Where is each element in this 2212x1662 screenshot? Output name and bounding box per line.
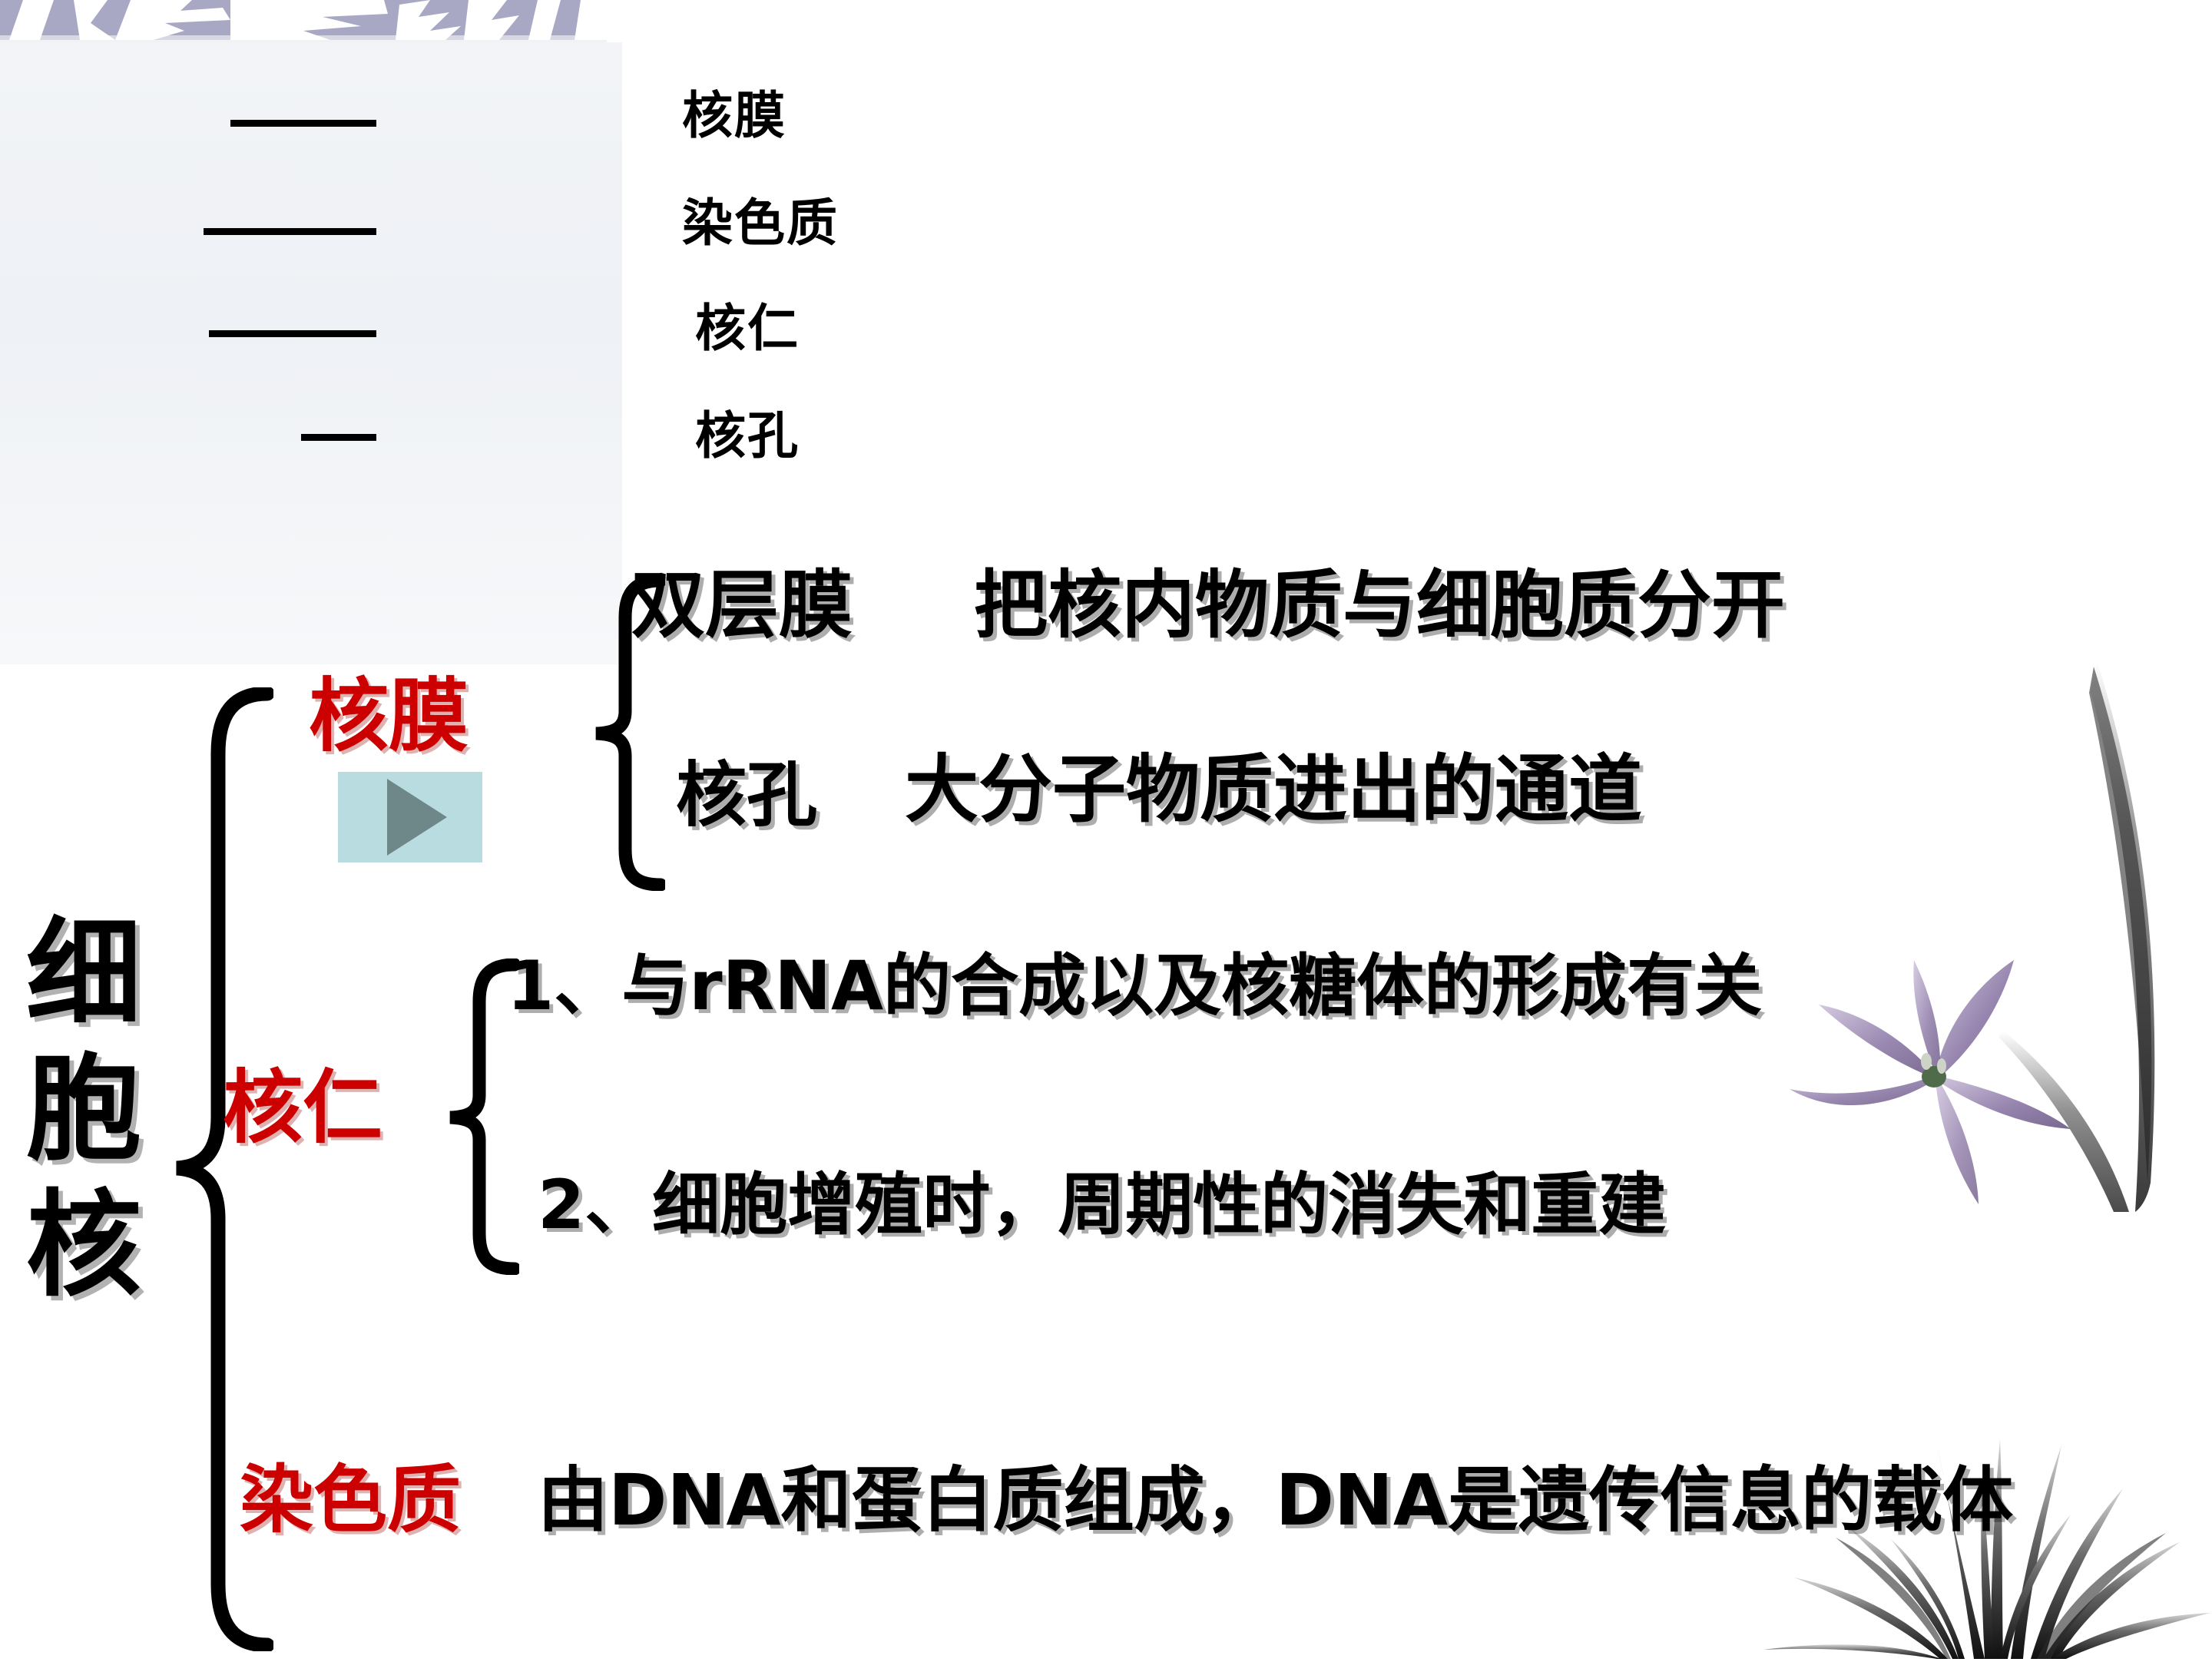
leader-line-nuclear-pore: [301, 434, 376, 441]
nucleolus-item-1: 2、细胞增殖时，周期性的消失和重建: [538, 1171, 1666, 1239]
orchid-decoration: [1736, 584, 2212, 1213]
title-char-0: 细: [11, 906, 157, 1042]
play-button[interactable]: [338, 772, 482, 862]
figure-background: [0, 42, 622, 664]
membrane-item-1-desc: 大分子物质进出的通道: [905, 753, 1642, 826]
category-nuclear-membrane: 核膜: [309, 676, 469, 756]
play-triangle-icon: [387, 779, 447, 856]
membrane-item-0-term: 双层膜: [631, 568, 853, 642]
nucleolus-item-0: 1、与rRNA的合成以及核糖体的形成有关: [507, 952, 1762, 1020]
leader-line-nuclear-membrane: [230, 120, 376, 127]
chromatin-desc: 由DNA和蛋白质组成，DNA是遗传信息的载体: [538, 1465, 2013, 1536]
diagram-label-nuclear-pore: 核孔: [695, 411, 800, 462]
membrane-item-1-term: 核孔: [676, 760, 817, 831]
page-title-cell-nucleus: 细 胞 核: [11, 906, 157, 1314]
membrane-item-0-desc: 把核内物质与细胞质分开: [974, 568, 1785, 642]
title-char-1: 胞: [11, 1042, 157, 1178]
leader-line-nucleolus: [209, 330, 376, 337]
category-nucleolus: 核仁: [223, 1068, 382, 1147]
diagram-label-chromatin: 染色质: [682, 198, 839, 249]
leader-line-chromatin: [204, 228, 376, 235]
diagram-label-nucleolus: 核仁: [695, 303, 800, 354]
diagram-label-nuclear-membrane: 核膜: [682, 91, 786, 141]
category-chromatin: 染色质: [240, 1463, 461, 1537]
title-char-2: 核: [11, 1178, 157, 1314]
nucleus-illustration: [0, 42, 622, 664]
top-decorative-band: [0, 0, 607, 48]
